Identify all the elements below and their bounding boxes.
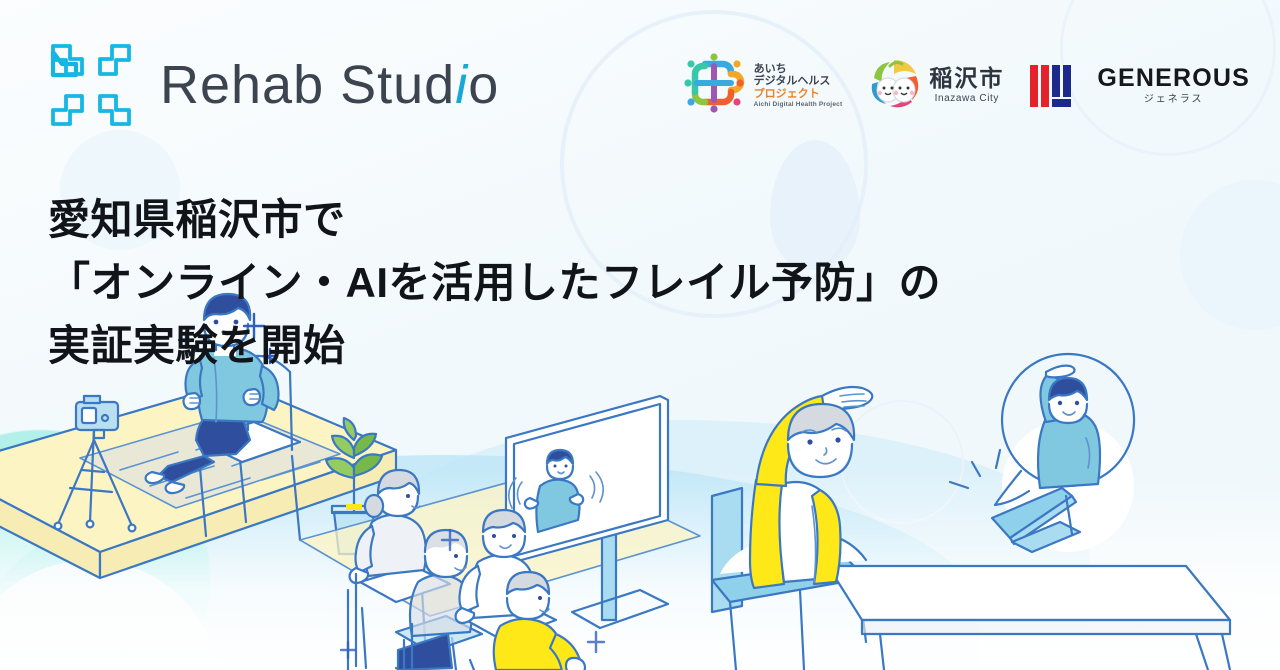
- inazawa-name-jp: 稲沢市: [929, 67, 1004, 90]
- headline-line-2: 「オンライン・AIを活用したフレイル予防」の: [48, 251, 941, 314]
- brand-lockup[interactable]: Rehab Studio: [48, 42, 499, 128]
- generous-name-jp: ジェネラス: [1144, 95, 1204, 105]
- inazawa-name-en: Inazawa City: [935, 94, 999, 104]
- generous-name-en: GENEROUS: [1097, 66, 1250, 91]
- scene-senior-stretching-at-desk: [712, 387, 1230, 670]
- smiling-fruit-mascot-icon: [868, 58, 920, 113]
- headline-line-1: 愛知県稲沢市で: [48, 188, 941, 251]
- bubble-instructor: [1038, 366, 1100, 488]
- page-header: Rehab Studio: [0, 0, 1280, 140]
- partner-aichi-digital-health-project[interactable]: あいち デジタルヘルス プロジェクト Aichi Digital Health …: [683, 52, 843, 119]
- brand-name-i: i: [455, 55, 468, 115]
- aichi-line1: あいち: [754, 63, 843, 75]
- partner-logos: あいち デジタルヘルス プロジェクト Aichi Digital Health …: [683, 52, 1250, 119]
- inazawa-logo-text: 稲沢市 Inazawa City: [929, 67, 1004, 104]
- headline-line-3: 実証実験を開始: [48, 314, 941, 377]
- aichi-line4-english: Aichi Digital Health Project: [754, 101, 843, 108]
- brand-name-tail: o: [468, 55, 499, 115]
- red-blue-bars-icon: [1030, 65, 1088, 107]
- colorful-cross-lattice-icon: [683, 52, 745, 119]
- partner-generous[interactable]: GENEROUS ジェネラス: [1030, 65, 1250, 107]
- generous-logo-text: GENEROUS ジェネラス: [1097, 66, 1250, 105]
- senior-4: [494, 572, 585, 670]
- aichi-line2: デジタルヘルス: [754, 75, 843, 87]
- page-title: 愛知県稲沢市で 「オンライン・AIを活用したフレイル予防」の 実証実験を開始: [48, 188, 941, 377]
- partner-inazawa-city[interactable]: 稲沢市 Inazawa City: [868, 58, 1004, 113]
- press-visual-banner: .ln{fill:none;stroke:#3b78c4;stroke-widt…: [0, 0, 1280, 670]
- aichi-line3: プロジェクト: [754, 88, 843, 100]
- brand-name-text: Rehab Stud: [160, 55, 455, 115]
- four-arrows-inward-icon: [48, 42, 134, 128]
- aichi-logo-text: あいち デジタルヘルス プロジェクト Aichi Digital Health …: [754, 63, 843, 108]
- brand-wordmark: Rehab Studio: [160, 58, 499, 112]
